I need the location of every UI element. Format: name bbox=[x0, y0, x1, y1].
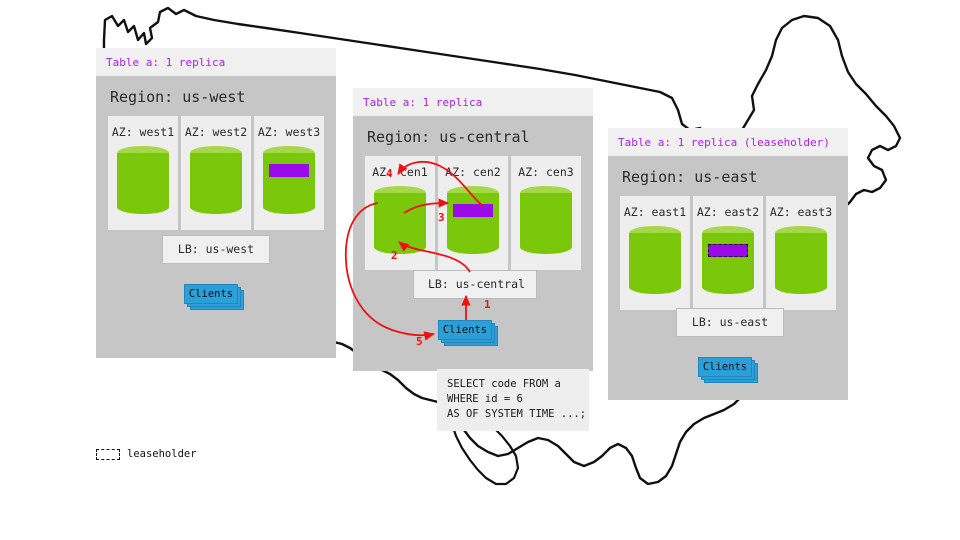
db-node-cylinder[interactable] bbox=[190, 146, 242, 214]
leaseholder-swatch-icon bbox=[96, 449, 120, 460]
region-label: Region: us-central bbox=[353, 116, 593, 156]
arrow-label-4: 4 bbox=[386, 167, 393, 180]
replica-marker[interactable] bbox=[269, 164, 309, 177]
az-cell-east1[interactable]: AZ: east1 bbox=[620, 196, 690, 310]
cylinder-body bbox=[702, 233, 754, 287]
cylinder-body bbox=[117, 153, 169, 207]
az-strip: AZ: west1 AZ: west2 AZ: west3 bbox=[108, 116, 324, 230]
region-table-title: Table a: 1 replica (leaseholder) bbox=[608, 128, 848, 156]
region-panel-us-central: Table a: 1 replica Region: us-central AZ… bbox=[353, 88, 593, 371]
db-node-cylinder[interactable] bbox=[447, 186, 499, 254]
az-cell-cen3[interactable]: AZ: cen3 bbox=[511, 156, 581, 270]
region-table-title: Table a: 1 replica bbox=[353, 88, 593, 116]
cylinder-bottom bbox=[117, 200, 169, 214]
load-balancer-us-west[interactable]: LB: us-west bbox=[162, 235, 270, 264]
arrow-label-5: 5 bbox=[416, 335, 423, 348]
az-strip: AZ: east1 AZ: east2 AZ: east3 bbox=[620, 196, 836, 310]
az-label: AZ: west1 bbox=[108, 125, 178, 139]
az-label: AZ: cen1 bbox=[365, 165, 435, 179]
cylinder-body bbox=[374, 193, 426, 247]
db-node-cylinder[interactable] bbox=[629, 226, 681, 294]
clients-label: Clients bbox=[698, 357, 752, 377]
region-panel-us-west: Table a: 1 replica Region: us-west AZ: w… bbox=[96, 48, 336, 358]
cylinder-body bbox=[263, 153, 315, 207]
cylinder-body bbox=[520, 193, 572, 247]
cylinder-bottom bbox=[374, 240, 426, 254]
replica-marker-leaseholder[interactable] bbox=[708, 244, 748, 257]
az-label: AZ: cen2 bbox=[438, 165, 508, 179]
cylinder-body bbox=[190, 153, 242, 207]
region-panel-us-east: Table a: 1 replica (leaseholder) Region:… bbox=[608, 128, 848, 400]
cylinder-bottom bbox=[775, 280, 827, 294]
az-label: AZ: east1 bbox=[620, 205, 690, 219]
load-balancer-us-east[interactable]: LB: us-east bbox=[676, 308, 784, 337]
cylinder-body bbox=[629, 233, 681, 287]
clients-label: Clients bbox=[438, 320, 492, 340]
clients-us-central[interactable]: Clients bbox=[438, 320, 496, 342]
region-label: Region: us-west bbox=[96, 76, 336, 116]
cylinder-bottom bbox=[447, 240, 499, 254]
cylinder-body bbox=[775, 233, 827, 287]
az-label: AZ: west2 bbox=[181, 125, 251, 139]
cylinder-bottom bbox=[520, 240, 572, 254]
cylinder-body bbox=[447, 193, 499, 247]
cylinder-bottom bbox=[629, 280, 681, 294]
db-node-cylinder[interactable] bbox=[374, 186, 426, 254]
db-node-cylinder[interactable] bbox=[775, 226, 827, 294]
replica-marker[interactable] bbox=[453, 204, 493, 217]
clients-us-west[interactable]: Clients bbox=[184, 284, 242, 306]
az-label: AZ: west3 bbox=[254, 125, 324, 139]
db-node-cylinder[interactable] bbox=[702, 226, 754, 294]
az-cell-cen2[interactable]: AZ: cen2 bbox=[438, 156, 508, 270]
clients-label: Clients bbox=[184, 284, 238, 304]
az-cell-west2[interactable]: AZ: west2 bbox=[181, 116, 251, 230]
diagram-canvas: Table a: 1 replica Region: us-west AZ: w… bbox=[0, 0, 960, 540]
db-node-cylinder[interactable] bbox=[520, 186, 572, 254]
db-node-cylinder[interactable] bbox=[117, 146, 169, 214]
db-node-cylinder[interactable] bbox=[263, 146, 315, 214]
legend-label: leaseholder bbox=[127, 448, 197, 460]
az-label: AZ: cen3 bbox=[511, 165, 581, 179]
legend: leaseholder bbox=[96, 448, 197, 460]
arrow-label-1: 1 bbox=[484, 298, 491, 311]
cylinder-bottom bbox=[190, 200, 242, 214]
az-cell-west1[interactable]: AZ: west1 bbox=[108, 116, 178, 230]
az-cell-east2[interactable]: AZ: east2 bbox=[693, 196, 763, 310]
az-label: AZ: east2 bbox=[693, 205, 763, 219]
sql-query-box: SELECT code FROM a WHERE id = 6 AS OF SY… bbox=[437, 369, 589, 431]
arrow-label-3: 3 bbox=[438, 211, 445, 224]
az-cell-east3[interactable]: AZ: east3 bbox=[766, 196, 836, 310]
az-label: AZ: east3 bbox=[766, 205, 836, 219]
cylinder-bottom bbox=[263, 200, 315, 214]
arrow-label-2: 2 bbox=[391, 249, 398, 262]
az-cell-cen1[interactable]: AZ: cen1 bbox=[365, 156, 435, 270]
cylinder-bottom bbox=[702, 280, 754, 294]
region-table-title: Table a: 1 replica bbox=[96, 48, 336, 76]
region-label: Region: us-east bbox=[608, 156, 848, 196]
az-cell-west3[interactable]: AZ: west3 bbox=[254, 116, 324, 230]
clients-us-east[interactable]: Clients bbox=[698, 357, 756, 379]
load-balancer-us-central[interactable]: LB: us-central bbox=[413, 270, 537, 299]
